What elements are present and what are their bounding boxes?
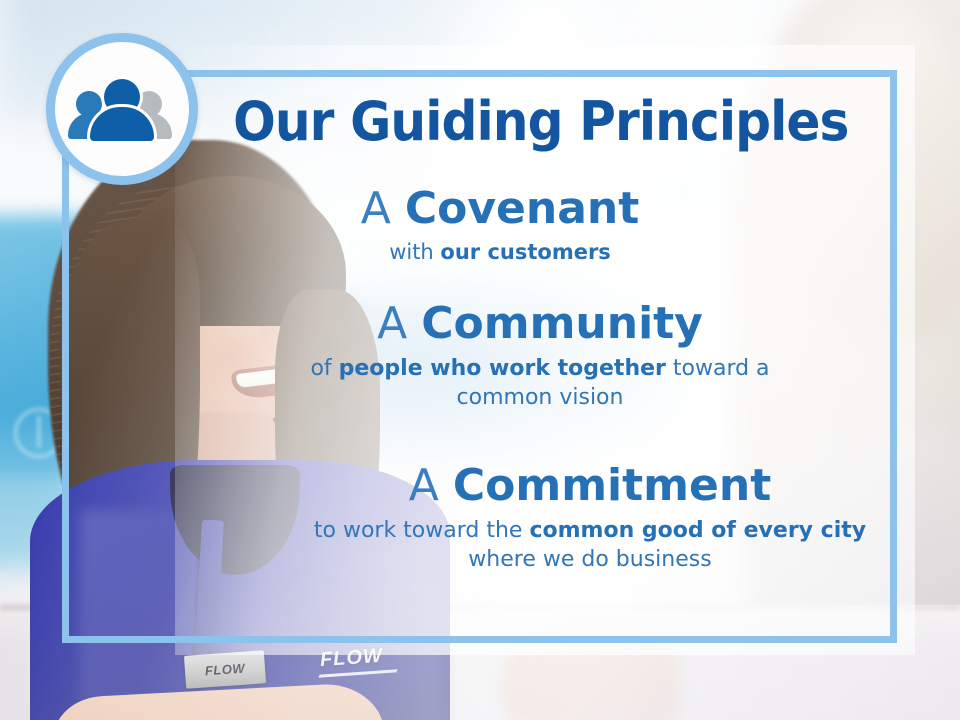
principle-commitment-subline: to work toward the common good of every … — [300, 516, 880, 574]
principle-commitment-headline: A Commitment — [300, 462, 880, 510]
principle-covenant-lead: A — [361, 183, 405, 234]
principle-covenant-subline: with our customers — [240, 239, 760, 267]
shirt-brand-logo: FLOW — [319, 645, 383, 672]
principle-commitment: A Commitment to work toward the common g… — [300, 462, 880, 574]
principle-community-lead: A — [377, 298, 421, 349]
principle-community: A Community of people who work together … — [260, 300, 820, 412]
principle-covenant-headline: A Covenant — [240, 185, 760, 233]
page-title: Our Guiding Principles — [233, 94, 847, 151]
banner-canvas: FLOW FLOW Our Guiding Principles A Cov — [0, 0, 960, 720]
employee-name-badge: FLOW — [184, 650, 266, 689]
shirt-highlight-left — [80, 510, 200, 720]
principle-community-headline: A Community — [260, 300, 820, 348]
principle-community-keyword: Community — [421, 298, 703, 349]
people-group-icon — [70, 77, 174, 141]
people-badge — [46, 33, 198, 185]
principle-commitment-keyword: Commitment — [453, 460, 771, 511]
principle-community-subline: of people who work together toward a com… — [260, 354, 820, 412]
name-badge-brand-text: FLOW — [204, 661, 245, 679]
principle-covenant: A Covenant with our customers — [240, 185, 760, 266]
principle-commitment-lead: A — [409, 460, 453, 511]
principle-covenant-keyword: Covenant — [405, 183, 639, 234]
